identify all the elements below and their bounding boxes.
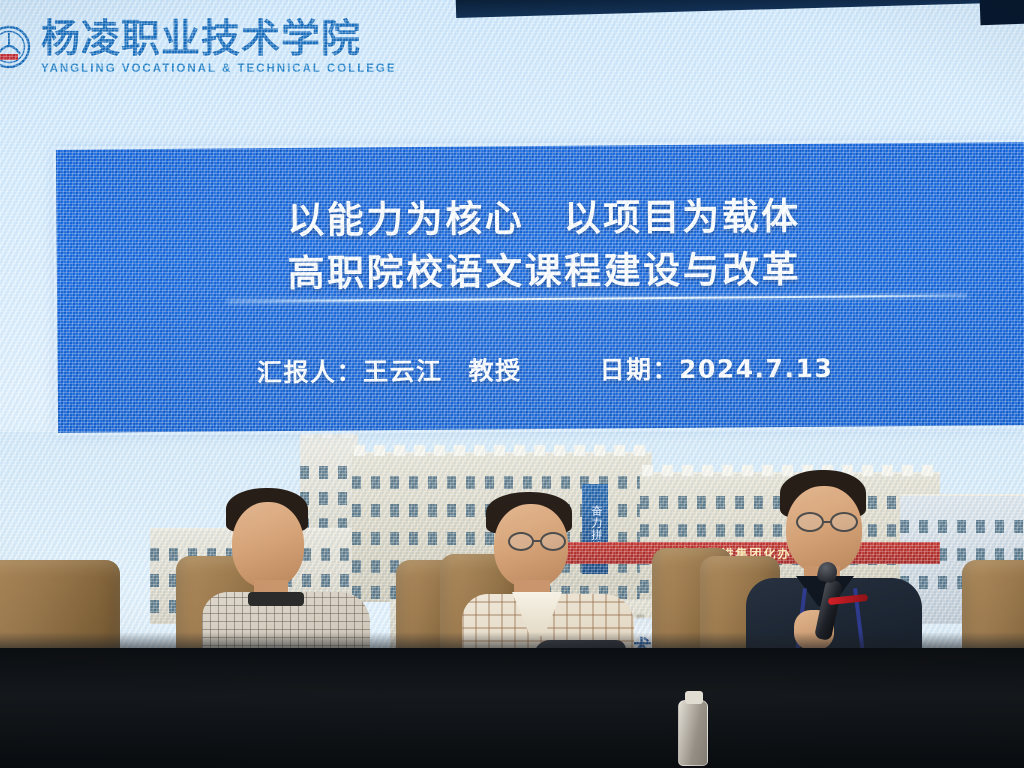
stage-scene: 奋力拼搏 大力推进集团化办学 技术学院 以能力为核心 以项目为载体 高职院校语文… bbox=[0, 0, 1024, 768]
eyeglasses-bridge bbox=[532, 540, 542, 542]
water-bottle bbox=[678, 700, 708, 766]
stage-foreground bbox=[0, 0, 1024, 768]
eyeglasses-right-lens bbox=[540, 532, 566, 551]
eyeglasses-left-lens bbox=[508, 532, 534, 551]
head bbox=[232, 502, 304, 588]
stage-floor bbox=[0, 648, 1024, 768]
eyeglasses-left-lens bbox=[796, 512, 824, 532]
shirt-collar bbox=[248, 592, 304, 606]
bottle-cap bbox=[685, 691, 703, 704]
eyeglasses-right-lens bbox=[830, 512, 858, 532]
eyeglasses-bridge bbox=[822, 521, 832, 523]
